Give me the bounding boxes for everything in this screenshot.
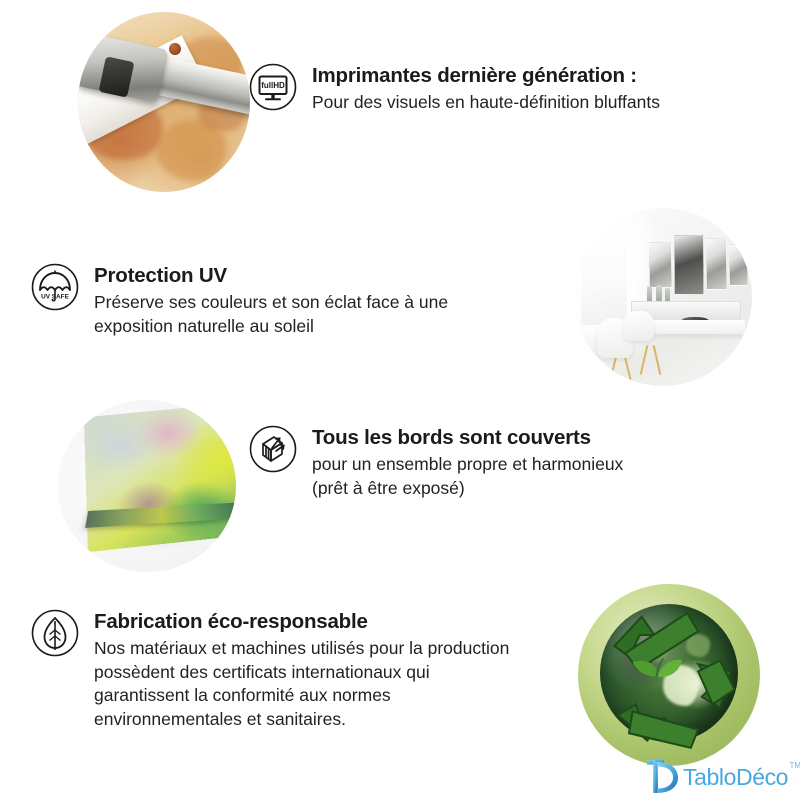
leaf-sprig-icon: [629, 653, 684, 686]
leaf-icon: [30, 608, 80, 658]
feature-title: Fabrication éco-responsable: [94, 609, 509, 634]
infographic-page: fullHD Imprimantes dernière génération :…: [0, 0, 800, 800]
feature-body: pour un ensemble propre et harmonieux (p…: [312, 453, 623, 500]
trademark-symbol: TM: [790, 762, 800, 770]
feature-body: Préserve ses couleurs et son éclat face …: [94, 291, 448, 338]
wall-art-panel: [706, 238, 727, 290]
svg-text:fullHD: fullHD: [261, 81, 285, 90]
feature-title: Protection UV: [94, 263, 448, 288]
feature-text: Fabrication éco-responsable Nos matériau…: [94, 608, 509, 731]
chair-leg: [652, 345, 661, 375]
eco-globe-recycling-photo: [578, 584, 760, 766]
feature-printers: fullHD Imprimantes dernière génération :…: [248, 62, 660, 115]
printer-world-map-photo: [78, 12, 250, 192]
feature-title: Tous les bords sont couverts: [312, 425, 623, 450]
wall-art-panel: [649, 242, 672, 288]
feature-eco-manufacturing: Fabrication éco-responsable Nos matériau…: [30, 608, 509, 731]
feature-text: Imprimantes dernière génération : Pour d…: [312, 62, 660, 115]
bright-interior-wall-art-photo: [574, 208, 752, 386]
feature-title: Imprimantes dernière génération :: [312, 63, 660, 88]
canvas-face: [84, 403, 236, 552]
fullhd-monitor-icon: fullHD: [248, 62, 298, 112]
brand-name-text: TabloDéco: [683, 764, 788, 790]
canvas-corner-photo: [58, 400, 236, 572]
feature-body: Pour des visuels en haute-définition blu…: [312, 91, 660, 114]
feature-text: Protection UV Préserve ses couleurs et s…: [94, 262, 448, 338]
uv-safe-umbrella-icon: UV SAFE: [30, 262, 80, 312]
window: [581, 226, 627, 326]
feature-text: Tous les bords sont couverts pour un ens…: [312, 424, 623, 500]
brand-logo[interactable]: TabloDéco TM fr: [645, 757, 793, 797]
feature-wrapped-edges: Tous les bords sont couverts pour un ens…: [248, 424, 623, 500]
chair: [624, 311, 654, 341]
wall-art-panel: [729, 244, 749, 287]
wrapped-edges-icon: [248, 424, 298, 474]
feature-body: Nos matériaux et machines utilisés pour …: [94, 637, 509, 731]
chair-leg: [640, 345, 649, 375]
wall-art-panel: [674, 235, 704, 296]
feature-uv-protection: UV SAFE Protection UV Préserve ses coule…: [30, 262, 448, 338]
td-monogram-icon: [645, 758, 681, 796]
brand-name: TabloDéco TM: [683, 766, 788, 789]
svg-text:UV SAFE: UV SAFE: [41, 294, 69, 301]
